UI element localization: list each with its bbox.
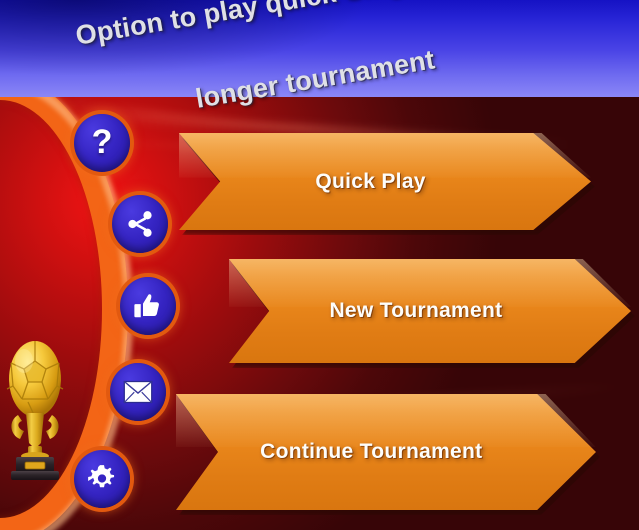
button-face bbox=[179, 133, 591, 230]
mail-icon[interactable] bbox=[110, 363, 166, 421]
help-icon-glyph: ? bbox=[92, 125, 113, 159]
quick-play-button[interactable]: Quick Play bbox=[179, 133, 591, 230]
thumbs-up-icon[interactable] bbox=[120, 277, 176, 335]
new-tournament-button[interactable]: New Tournament bbox=[229, 259, 631, 363]
header-banner bbox=[0, 0, 639, 97]
game-main-menu-screen: Option to play quick Single Game or long… bbox=[0, 0, 639, 530]
side-icon-rail: ? bbox=[66, 105, 140, 525]
button-face bbox=[176, 394, 596, 510]
trophy-icon bbox=[4, 339, 66, 483]
button-face bbox=[229, 259, 631, 363]
help-icon[interactable]: ? bbox=[74, 114, 130, 172]
share-icon[interactable] bbox=[112, 195, 168, 253]
gear-icon[interactable] bbox=[74, 450, 130, 508]
continue-tournament-button[interactable]: Continue Tournament bbox=[176, 394, 596, 510]
